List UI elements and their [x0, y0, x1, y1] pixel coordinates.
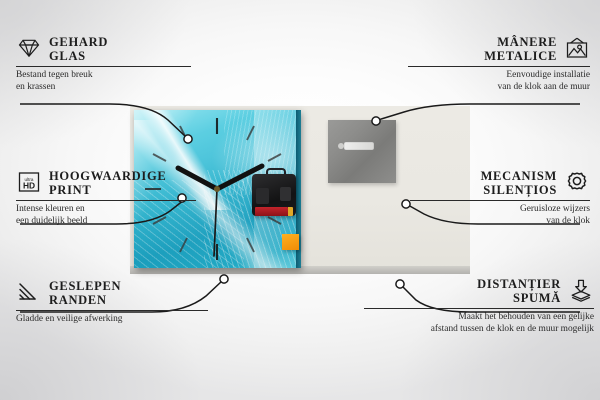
feature-print-head: ultra HD HOOGWAARDIGE PRINT	[16, 170, 196, 197]
feature-handles-head: MÂNERE METALICE	[408, 36, 590, 63]
feature-handles-description: Eenvoudige installatie van de klok aan d…	[408, 70, 590, 93]
feature-handles: MÂNERE METALICE Eenvoudige installatie v…	[408, 36, 590, 93]
feature-edges: GESLEPEN RANDEN Gladde en veilige afwerk…	[16, 280, 208, 326]
svg-text:HD: HD	[23, 181, 35, 191]
connector-endpoint-mechanism	[402, 200, 410, 208]
feature-print-description: Intense kleuren en een duidelijk beeld	[16, 204, 196, 227]
spacer-arrow-icon	[568, 278, 594, 302]
feature-edges-description: Gladde en veilige afwerking	[16, 314, 208, 326]
feature-handles-title: MÂNERE METALICE	[484, 36, 557, 63]
connector-endpoint-glass	[184, 135, 192, 143]
feature-mechanism-rule	[410, 200, 590, 201]
connector-endpoint-edges	[220, 275, 228, 283]
picture-frame-icon	[564, 36, 590, 60]
feature-edges-rule	[16, 310, 208, 311]
infographic-canvas: GEHARD GLAS Bestand tegen breuk en krass…	[0, 0, 600, 400]
feature-print: ultra HD HOOGWAARDIGE PRINT Intense kleu…	[16, 170, 196, 227]
feature-glass: GEHARD GLAS Bestand tegen breuk en krass…	[16, 36, 191, 93]
feature-edges-head: GESLEPEN RANDEN	[16, 280, 208, 307]
feature-glass-description: Bestand tegen breuk en krassen	[16, 70, 191, 93]
feature-handles-rule	[408, 66, 590, 67]
feature-glass-head: GEHARD GLAS	[16, 36, 191, 63]
connector-glass	[20, 104, 186, 137]
feature-print-title: HOOGWAARDIGE PRINT	[49, 170, 166, 197]
feature-mechanism-description: Geruisloze wijzers van de klok	[410, 204, 590, 227]
connector-endpoint-handles	[372, 117, 380, 125]
gear-icon	[564, 170, 590, 194]
feature-edges-title: GESLEPEN RANDEN	[49, 280, 121, 307]
feature-spacer-head: DISTANȚIER SPUMĂ	[364, 278, 594, 305]
feature-spacer-rule	[364, 308, 594, 309]
feature-spacer: DISTANȚIER SPUMĂ Maakt het behouden van …	[364, 278, 594, 335]
connector-handles	[378, 104, 580, 120]
diamond-icon	[16, 36, 42, 60]
feature-print-rule	[16, 200, 196, 201]
feature-glass-rule	[16, 66, 191, 67]
ground-edges-icon	[16, 280, 42, 304]
ultra-hd-icon: ultra HD	[16, 170, 42, 194]
feature-glass-title: GEHARD GLAS	[49, 36, 108, 63]
feature-mechanism-title: MECANISM SILENȚIOS	[481, 170, 557, 197]
feature-spacer-description: Maakt het behouden van een gelijke afsta…	[364, 312, 594, 335]
feature-mechanism: MECANISM SILENȚIOS Geruisloze wijzers va…	[410, 170, 590, 227]
feature-spacer-title: DISTANȚIER SPUMĂ	[477, 278, 561, 305]
feature-mechanism-head: MECANISM SILENȚIOS	[410, 170, 590, 197]
